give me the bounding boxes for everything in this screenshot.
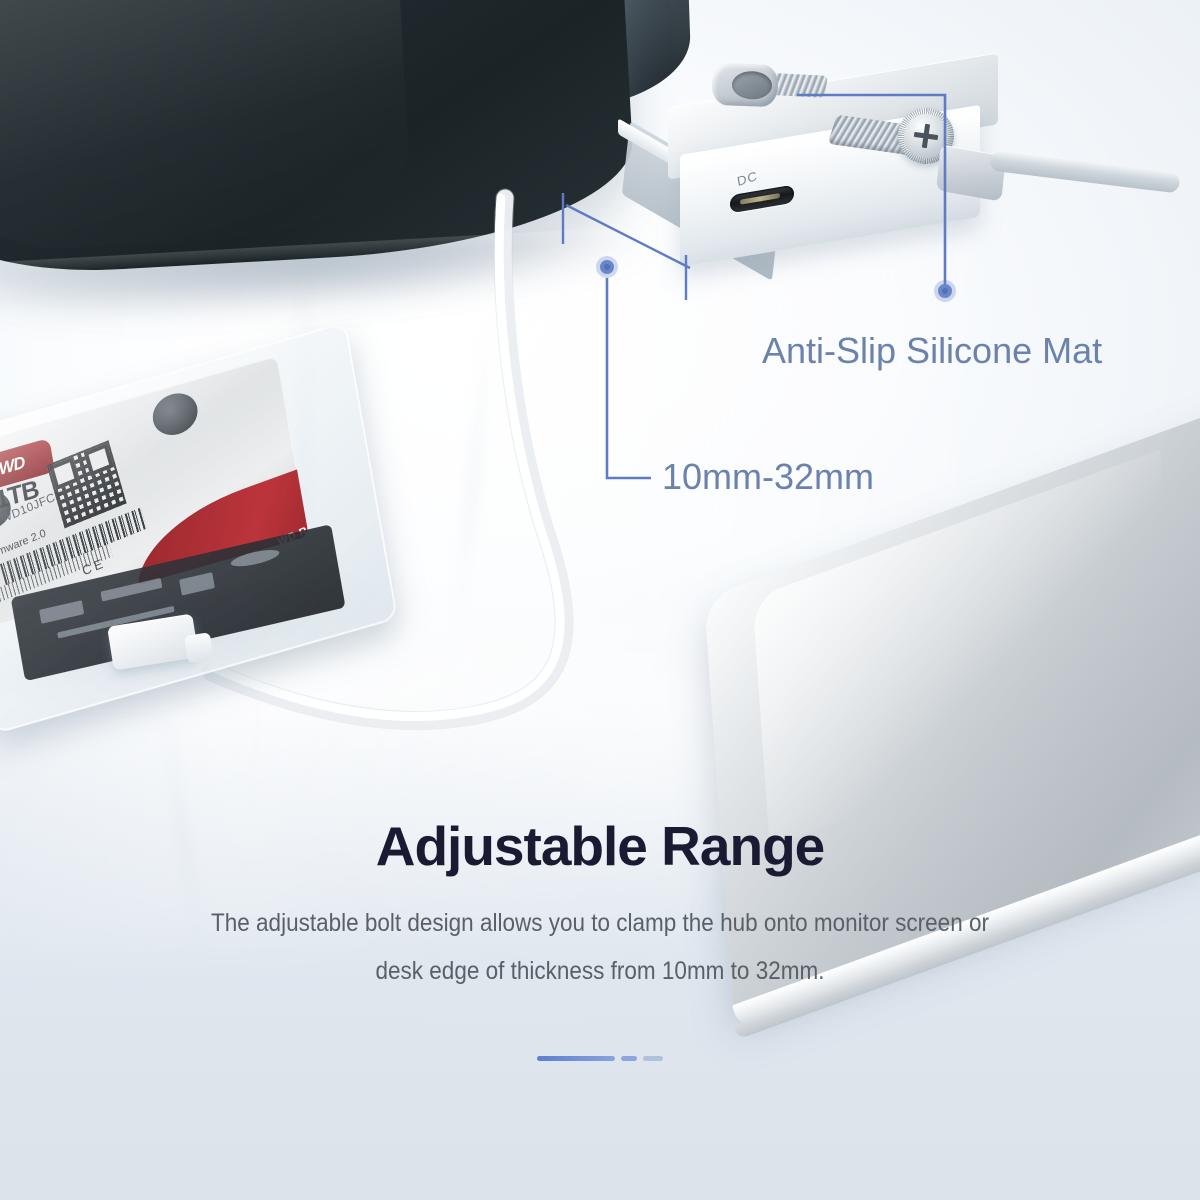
silicone-mat-leader-line <box>797 95 945 290</box>
annotation-overlay <box>0 0 1200 1200</box>
divider-dash-mid <box>621 1056 637 1061</box>
page-title: Adjustable Range <box>0 818 1200 876</box>
dimension-span-line <box>566 205 690 268</box>
marketing-text-block: Adjustable Range The adjustable bolt des… <box>0 818 1200 993</box>
decorative-divider <box>0 1056 1200 1061</box>
thickness-range-leader-line <box>607 278 651 478</box>
callout-thickness-range: 10mm-32mm <box>662 456 874 498</box>
silicone-mat-dot-core <box>942 288 948 294</box>
divider-dash-long <box>537 1056 615 1061</box>
body-copy-line-1: The adjustable bolt design allows you to… <box>60 902 1140 946</box>
range-dot-core <box>604 264 610 270</box>
divider-dash-small <box>643 1056 663 1061</box>
product-scene: DC WD 1TB WD10JFC <box>0 0 1200 1200</box>
callout-silicone-mat: Anti-Slip Silicone Mat <box>762 330 1102 372</box>
body-copy-line-2: desk edge of thickness from 10mm to 32mm… <box>60 950 1140 994</box>
